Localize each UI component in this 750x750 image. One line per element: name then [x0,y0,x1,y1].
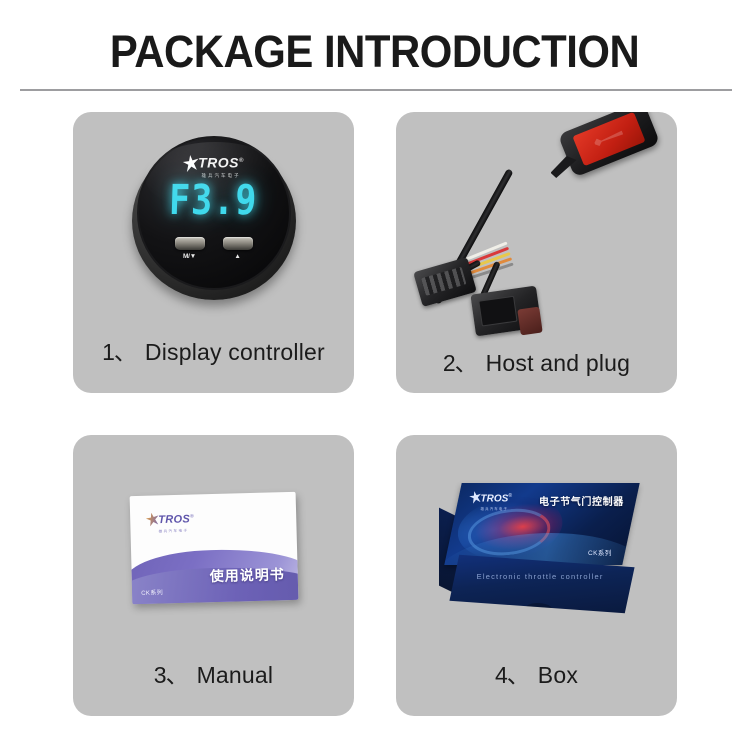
registered-mark: ® [239,158,244,164]
box-title-cn: 电子节气门控制器 [539,493,624,508]
controller-device: TROS® 雄兵汽车电子 F3.9 M/▼ ▲ [132,134,296,298]
display-controller-image: TROS® 雄兵汽车电子 F3.9 M/▼ ▲ [73,112,354,333]
box-image: TROS® 雄兵汽车电子 电子节气门控制器 CK系列 Electronic th… [396,435,677,656]
page-header: PACKAGE INTRODUCTION [0,0,750,92]
button-cap [223,237,253,250]
box-top-face: TROS® 雄兵汽车电子 电子节气门控制器 CK系列 [444,483,639,565]
manual-image: TROS® 雄兵汽车电子 使用说明书 CK系列 [73,435,354,656]
item-caption: 2、Host and plug [396,344,677,393]
xtros-logo: TROS® 雄兵汽车电子 [469,491,511,514]
brand-subtext: 雄兵汽车电子 [480,504,511,514]
item-number: 4、 [495,662,529,688]
box-series-code: CK系列 [588,547,612,557]
package-items-grid: TROS® 雄兵汽车电子 F3.9 M/▼ ▲ [73,112,677,716]
brand-subtext: 雄兵汽车电子 [158,525,194,537]
product-box: TROS® 雄兵汽车电子 电子节气门控制器 CK系列 Electronic th… [439,483,635,611]
title-divider [20,89,732,91]
controller-buttons: M/▼ ▲ [175,237,253,261]
box-subtitle-en: Electronic throttle controller [476,571,603,580]
host-harness-assembly [411,112,663,344]
item-caption: 1、Display controller [73,333,354,393]
host-red-label [572,112,645,166]
box-thumb-notch [524,602,552,613]
xtros-logo: TROS® 雄兵汽车电子 [146,511,194,537]
host-and-plug-image [396,112,677,344]
manual-title-cn: 使用说明书 [209,564,284,586]
manual-booklet: TROS® 雄兵汽车电子 使用说明书 CK系列 [129,491,298,603]
package-item-box[interactable]: TROS® 雄兵汽车电子 电子节气门控制器 CK系列 Electronic th… [396,435,677,716]
mode-down-button-label: M/▼ [183,253,196,261]
item-caption: 3、Manual [73,656,354,716]
item-number: 2、 [443,350,477,376]
item-number: 1、 [102,339,136,365]
registered-mark: ® [189,513,193,519]
item-number: 3、 [154,662,188,688]
manual-series-code: CK系列 [141,587,163,597]
brand-name: TROS® 雄兵汽车电子 [158,511,194,537]
package-item-manual[interactable]: TROS® 雄兵汽车电子 使用说明书 CK系列 3、Manual [73,435,354,716]
mode-down-button[interactable]: M/▼ [175,237,205,261]
seven-segment-display: F3.9 [169,177,259,224]
item-label: Manual [197,662,274,688]
item-label: Display controller [145,339,325,365]
page-title: PACKAGE INTRODUCTION [110,26,639,78]
up-button[interactable]: ▲ [223,237,253,261]
brand-name: TROS® 雄兵汽车电子 [480,491,511,514]
item-label: Box [538,662,578,688]
controller-face: TROS® 雄兵汽车电子 F3.9 M/▼ ▲ [137,136,291,290]
item-label: Host and plug [486,350,631,376]
host-module [557,112,660,178]
connector-latch [517,307,542,336]
button-cap [175,237,205,250]
registered-mark: ® [508,493,512,499]
package-item-display-controller[interactable]: TROS® 雄兵汽车电子 F3.9 M/▼ ▲ [73,112,354,393]
package-item-host-and-plug[interactable]: 2、Host and plug [396,112,677,393]
up-button-label: ▲ [234,253,240,261]
item-caption: 4、Box [396,656,677,716]
xtros-logo: TROS® 雄兵汽车电子 [183,155,244,175]
